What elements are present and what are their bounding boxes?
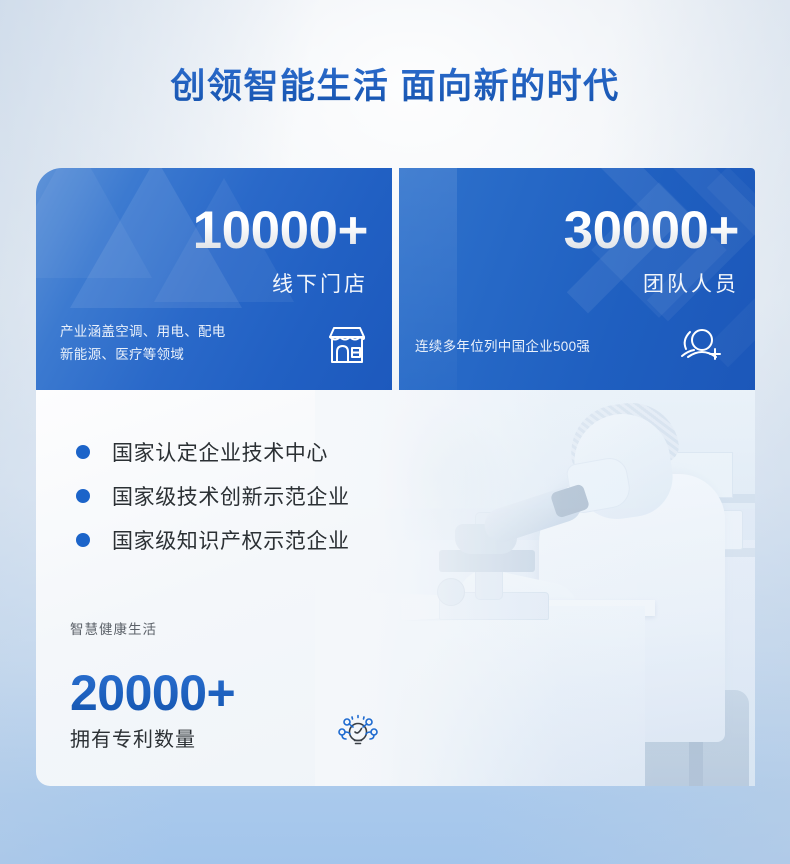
list-item-label: 国家级技术创新示范企业 xyxy=(112,481,350,511)
stat-label-team: 团队人员 xyxy=(643,268,739,298)
list-item-label: 国家认定企业技术中心 xyxy=(112,437,328,467)
promo-page: 创领智能生活 面向新的时代 10000+ 线下门店 产业涵盖空调、用电、配电 新… xyxy=(0,0,790,864)
section-caption: 智慧健康生活 xyxy=(70,618,157,638)
info-panel: 国家认定企业技术中心 国家级技术创新示范企业 国家级知识产权示范企业 智慧健康生… xyxy=(36,390,755,786)
list-item-label: 国家级知识产权示范企业 xyxy=(112,525,350,555)
certification-list: 国家认定企业技术中心 国家级技术创新示范企业 国家级知识产权示范企业 xyxy=(76,432,350,564)
triangle-watermark-c xyxy=(36,168,152,278)
storefront-icon xyxy=(324,323,370,372)
bullet-dot-icon xyxy=(76,445,90,459)
stat-desc-stores: 产业涵盖空调、用电、配电 新能源、医疗等领域 xyxy=(60,321,226,366)
page-title: 创领智能生活 面向新的时代 xyxy=(0,58,790,109)
stat-desc-stores-line1: 产业涵盖空调、用电、配电 xyxy=(60,321,226,343)
stat-card-team: 30000+ 团队人员 连续多年位列中国企业500强 xyxy=(399,168,755,390)
innovation-bulb-icon xyxy=(336,712,380,759)
stat-card-stores: 10000+ 线下门店 产业涵盖空调、用电、配电 新能源、医疗等领域 xyxy=(36,168,392,390)
stat-desc-stores-line2: 新能源、医疗等领域 xyxy=(60,344,226,366)
stat-number-team: 30000+ xyxy=(564,204,739,257)
stat-desc-team: 连续多年位列中国企业500强 xyxy=(415,336,590,358)
patent-stat-block: 20000+ 拥有专利数量 xyxy=(70,668,400,752)
stat-cards-row: 10000+ 线下门店 产业涵盖空调、用电、配电 新能源、医疗等领域 xyxy=(36,168,755,390)
list-item: 国家级技术创新示范企业 xyxy=(76,476,350,516)
list-item: 国家级知识产权示范企业 xyxy=(76,520,350,560)
stat-label-stores: 线下门店 xyxy=(272,268,368,298)
stat-desc-team-line1: 连续多年位列中国企业500强 xyxy=(415,336,590,358)
stat-number-stores: 10000+ xyxy=(193,204,368,257)
bullet-dot-icon xyxy=(76,489,90,503)
add-people-icon xyxy=(675,325,725,374)
bullet-dot-icon xyxy=(76,533,90,547)
list-item: 国家认定企业技术中心 xyxy=(76,432,350,472)
